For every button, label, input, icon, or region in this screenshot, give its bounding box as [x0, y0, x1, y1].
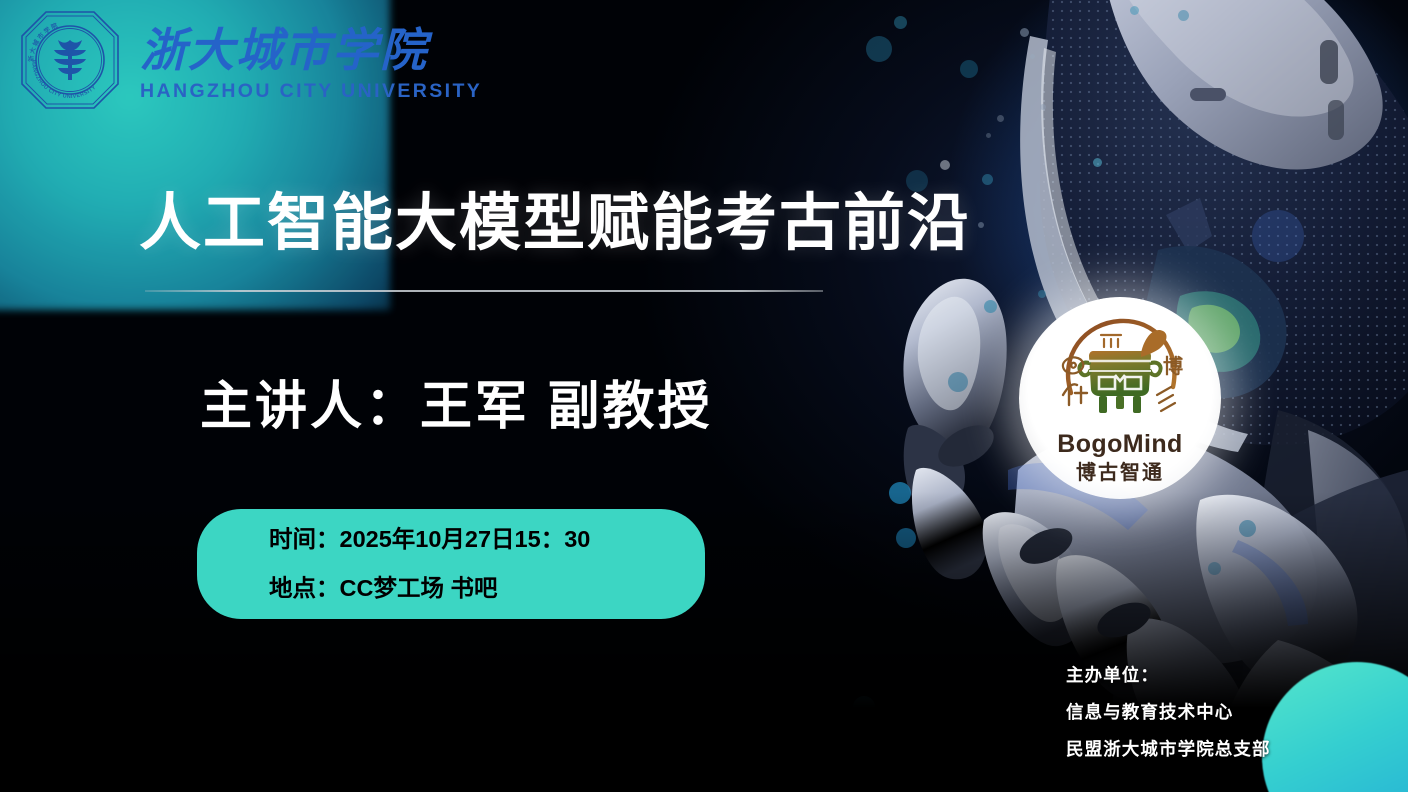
organizer-heading: 主办单位：: [1066, 662, 1271, 687]
bokeh-dot: [894, 16, 907, 29]
bokeh-dot: [984, 300, 997, 313]
bokeh-dot: [986, 133, 991, 138]
bokeh-dot: [960, 60, 978, 78]
bokeh-dot: [1130, 6, 1139, 15]
bokeh-dot: [982, 174, 993, 185]
bogomind-seal-char: 博: [1163, 354, 1183, 378]
university-name-cn: 浙大城市学院: [140, 22, 482, 78]
svg-text:HANGZHOU CITY UNIVERSITY: HANGZHOU CITY UNIVERSITY: [30, 60, 98, 100]
organizer-item: 民盟浙大城市学院总支部: [1066, 736, 1271, 761]
bokeh-dot: [997, 115, 1004, 122]
university-lockup: 浙 大 城 市 学 院 HANGZHOU CITY UNIVERSITY 浙大城…: [16, 6, 482, 114]
university-names: 浙大城市学院 HANGZHOU CITY UNIVERSITY: [140, 22, 482, 103]
bogomind-name-cn: 博古智通: [1076, 463, 1164, 483]
organizer-block: 主办单位： 信息与教育技术中心 民盟浙大城市学院总支部: [1066, 662, 1271, 761]
bokeh-dot: [1038, 290, 1046, 298]
page-title: 人工智能大模型赋能考古前沿: [139, 172, 971, 262]
bokeh-dot: [1020, 28, 1029, 37]
poster-canvas: 浙 大 城 市 学 院 HANGZHOU CITY UNIVERSITY 浙大城…: [0, 0, 1408, 792]
event-location: 地点：CC梦工场 书吧: [269, 577, 705, 601]
event-info-pill: 时间：2025年10月27日15：30 地点：CC梦工场 书吧: [197, 509, 705, 619]
university-seal-icon: 浙 大 城 市 学 院 HANGZHOU CITY UNIVERSITY: [16, 6, 124, 114]
bokeh-dot: [1030, 54, 1035, 59]
bokeh-dot: [1040, 104, 1046, 110]
organizer-item: 信息与教育技术中心: [1066, 699, 1271, 724]
title-divider: [145, 290, 823, 292]
bronze-ding-vessel-icon: 博: [1045, 311, 1195, 434]
bokeh-dot: [1178, 10, 1189, 21]
bokeh-dot: [1093, 158, 1102, 167]
bokeh-dot: [940, 160, 950, 170]
university-name-cn-text: 浙大城市学院: [140, 25, 433, 76]
bokeh-dot: [978, 222, 984, 228]
event-time: 时间：2025年10月27日15：30: [269, 528, 705, 552]
bokeh-dot: [866, 36, 892, 62]
speaker-line: 主讲人：王军 副教授: [200, 364, 712, 439]
bogomind-badge: 博 BogoMind 博古智通: [1019, 297, 1221, 499]
university-name-en: HANGZHOU CITY UNIVERSITY: [140, 80, 482, 103]
bokeh-dot: [948, 372, 968, 392]
bogomind-name-en: BogoMind: [1057, 432, 1182, 457]
